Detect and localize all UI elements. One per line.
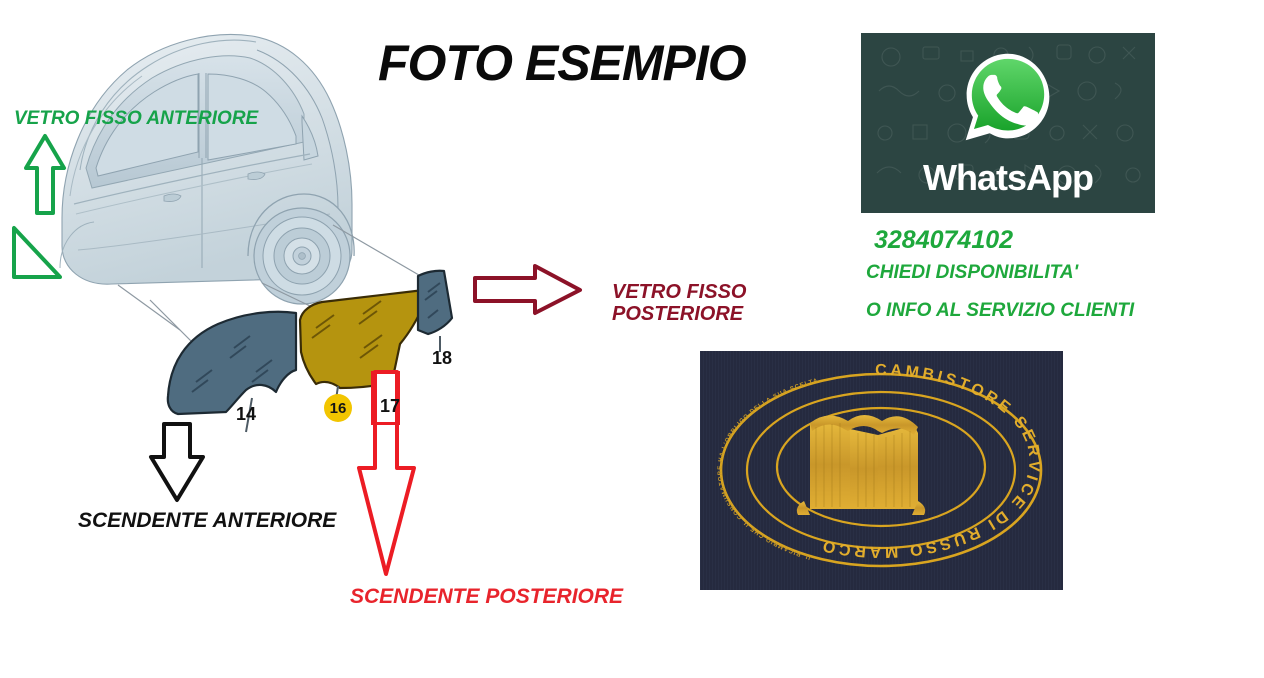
label-scendente-posteriore: SCENDENTE POSTERIORE	[350, 585, 623, 609]
car-illustration	[52, 18, 412, 338]
part-number-17: 17	[380, 396, 400, 417]
whatsapp-banner: WhatsApp	[861, 33, 1155, 213]
part-number-18: 18	[432, 348, 452, 369]
poster-canvas: FOTO ESEMPIO	[0, 0, 1264, 678]
page-title: FOTO ESEMPIO	[378, 34, 746, 92]
availability-line-2: O INFO AL SERVIZIO CLIENTI	[866, 300, 1134, 322]
glass-hatch-18	[425, 283, 440, 318]
shop-logo-svg: MRICAMBISTORE SERVICE DI RUSSO MARCO IL …	[700, 351, 1063, 590]
glass-hatch-14	[192, 336, 272, 392]
glass-panel-18	[418, 271, 452, 334]
whatsapp-icon	[961, 50, 1055, 144]
car-svg	[52, 18, 412, 338]
label-vetro-fisso-anteriore: VETRO FISSO ANTERIORE	[14, 108, 258, 129]
availability-line-1: CHIEDI DISPONIBILITA'	[866, 262, 1078, 284]
label-vetro-fisso-posteriore-line2: POSTERIORE	[612, 303, 746, 325]
label-vetro-fisso-posteriore-line1: VETRO FISSO	[612, 281, 746, 303]
shop-logo-image: MRICAMBISTORE SERVICE DI RUSSO MARCO IL …	[700, 351, 1063, 590]
right-arrow-darkred	[475, 266, 580, 313]
label-scendente-anteriore: SCENDENTE ANTERIORE	[78, 509, 336, 533]
part-number-14: 14	[236, 404, 256, 425]
label-vetro-fisso-posteriore: VETRO FISSO POSTERIORE	[612, 281, 746, 326]
part-number-16-badge: 16	[324, 394, 352, 422]
whatsapp-wordmark: WhatsApp	[861, 157, 1155, 199]
down-arrow-black	[151, 424, 203, 500]
phone-number[interactable]: 3284074102	[874, 226, 1013, 255]
